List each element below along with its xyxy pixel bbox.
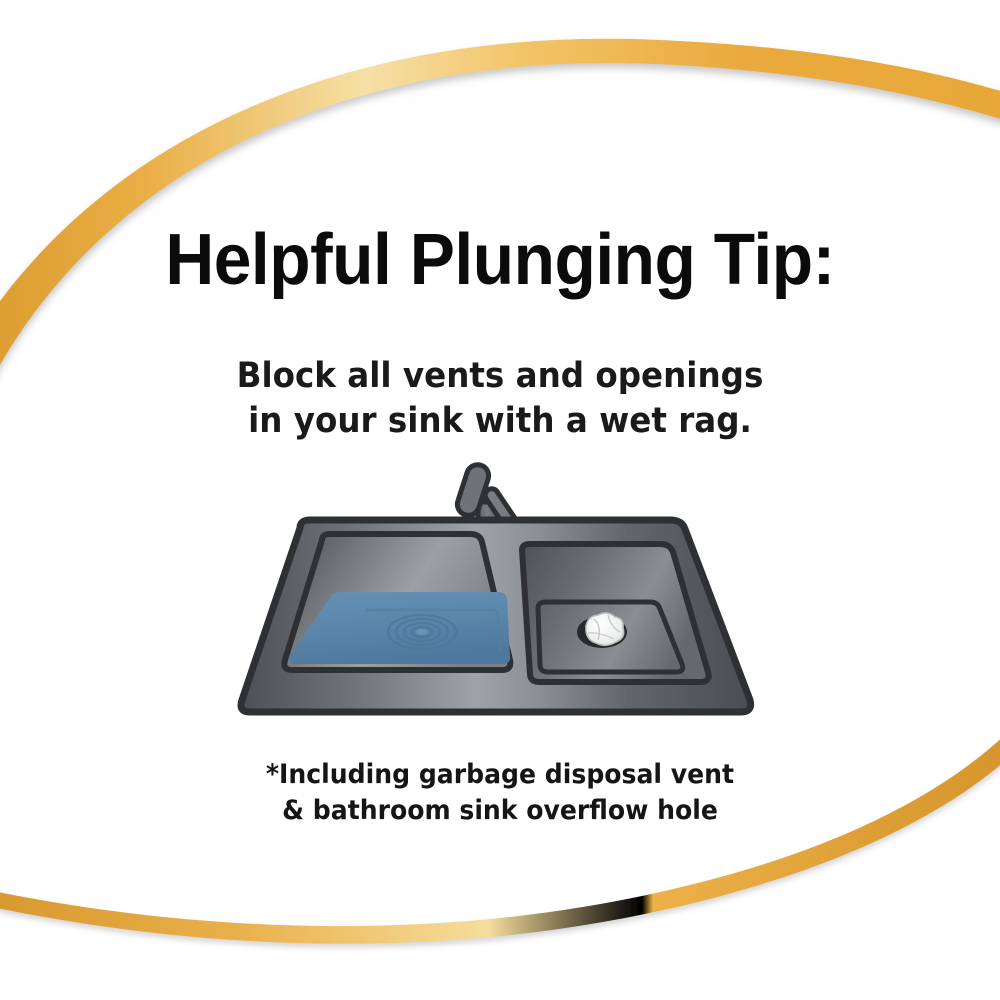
footnote-line-2: & bathroom sink overflow hole — [35, 793, 965, 829]
footnote-line-1: *Including garbage disposal vent — [35, 757, 965, 793]
poster-canvas: Helpful Plunging Tip: Block all vents an… — [0, 0, 1000, 1000]
subtitle-block: Block all vents and openings in your sin… — [35, 354, 965, 444]
subtitle-line-1: Block all vents and openings — [35, 354, 965, 399]
subtitle-line-2: in your sink with a wet rag. — [35, 399, 965, 444]
footnote-block: *Including garbage disposal vent & bathr… — [35, 757, 965, 829]
text-layer: Helpful Plunging Tip: Block all vents an… — [0, 0, 1000, 1000]
page-title: Helpful Plunging Tip: — [30, 224, 970, 296]
